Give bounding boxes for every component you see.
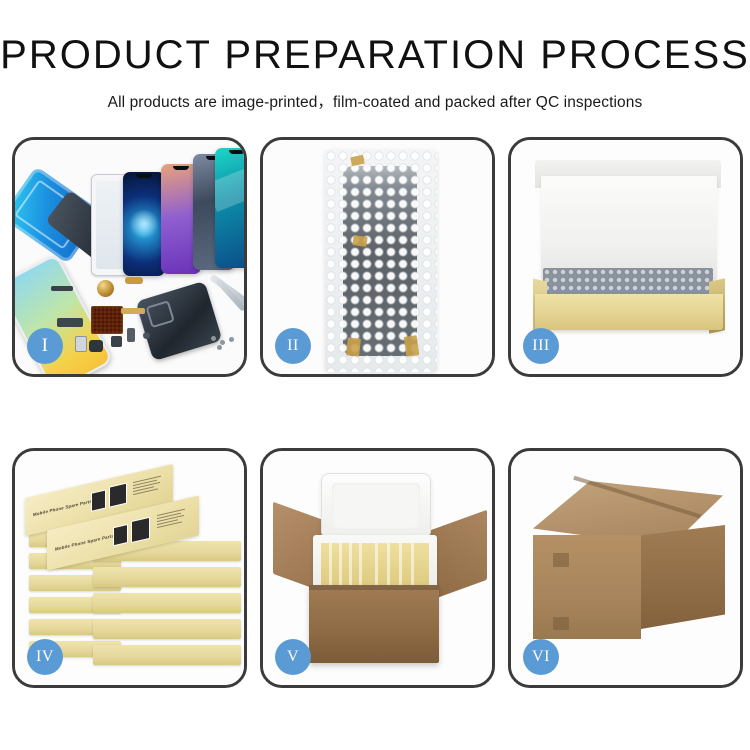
camera-module-icon (89, 340, 103, 352)
gold-connector-icon (125, 277, 143, 284)
carton-tab-icon (553, 553, 569, 567)
stacked-box (93, 645, 241, 665)
screw-icon (143, 332, 150, 339)
chip-component-icon (91, 306, 123, 334)
carton-front-face (533, 535, 641, 639)
stacked-box (93, 619, 241, 639)
page-subtitle: All products are image-printed，film-coat… (0, 90, 750, 112)
step-panel-3: III (508, 137, 743, 377)
box-window (91, 489, 106, 511)
box-front-panel (535, 294, 723, 330)
tape-icon (404, 335, 420, 357)
step-badge-6: VI (523, 639, 559, 675)
styrofoam-lid-icon (321, 473, 431, 539)
process-steps-grid: I II (12, 137, 738, 688)
flex-cable-icon (51, 286, 73, 291)
stacked-box (93, 567, 241, 587)
notch-icon (173, 166, 189, 170)
box-spec-lines (133, 475, 163, 497)
stacked-box (93, 593, 241, 613)
carton-side-face (641, 525, 725, 629)
sim-tray-icon (75, 336, 87, 352)
box-window (113, 524, 128, 546)
header: PRODUCT PREPARATION PROCESS All products… (0, 0, 750, 112)
step-panel-2: II (260, 137, 495, 377)
small-part-icon (111, 336, 122, 347)
step-panel-4: Mobile Phone Spare Parts (12, 448, 247, 688)
step-badge-4: IV (27, 639, 63, 675)
step-panel-5: V (260, 448, 495, 688)
bubble-wrap-texture (325, 150, 437, 372)
bracket-icon (57, 318, 83, 327)
bubble-wrap-package (325, 150, 437, 372)
gold-flex-icon (121, 308, 145, 314)
screws-group-icon (211, 336, 237, 350)
box-spec-lines (157, 508, 189, 530)
box-label: Mobile Phone Spare Parts (55, 533, 114, 552)
tape-icon (352, 235, 367, 247)
notch-icon (136, 174, 152, 178)
page-title: PRODUCT PREPARATION PROCESS (0, 34, 750, 76)
lcd-display-1 (123, 172, 165, 276)
box-window (131, 517, 150, 543)
step-badge-1: I (27, 328, 63, 364)
carton-body (309, 585, 439, 663)
tape-icon (346, 337, 361, 356)
foam-sheet-icon (541, 176, 717, 280)
step-badge-5: V (275, 639, 311, 675)
step-panel-1: I (12, 137, 247, 377)
packed-yellow-boxes (321, 543, 429, 587)
product-preparation-infographic: PRODUCT PREPARATION PROCESS All products… (0, 0, 750, 750)
speaker-module-icon (97, 280, 114, 297)
step-badge-2: II (275, 328, 311, 364)
box-window (109, 483, 127, 508)
box-label: Mobile Phone Spare Parts (33, 499, 92, 518)
step-badge-3: III (523, 328, 559, 364)
button-part-icon (127, 328, 135, 342)
notch-icon (229, 150, 244, 154)
carton-tab-icon (553, 617, 569, 630)
lcd-display-4 (215, 148, 244, 268)
step-panel-6: VI (508, 448, 743, 688)
